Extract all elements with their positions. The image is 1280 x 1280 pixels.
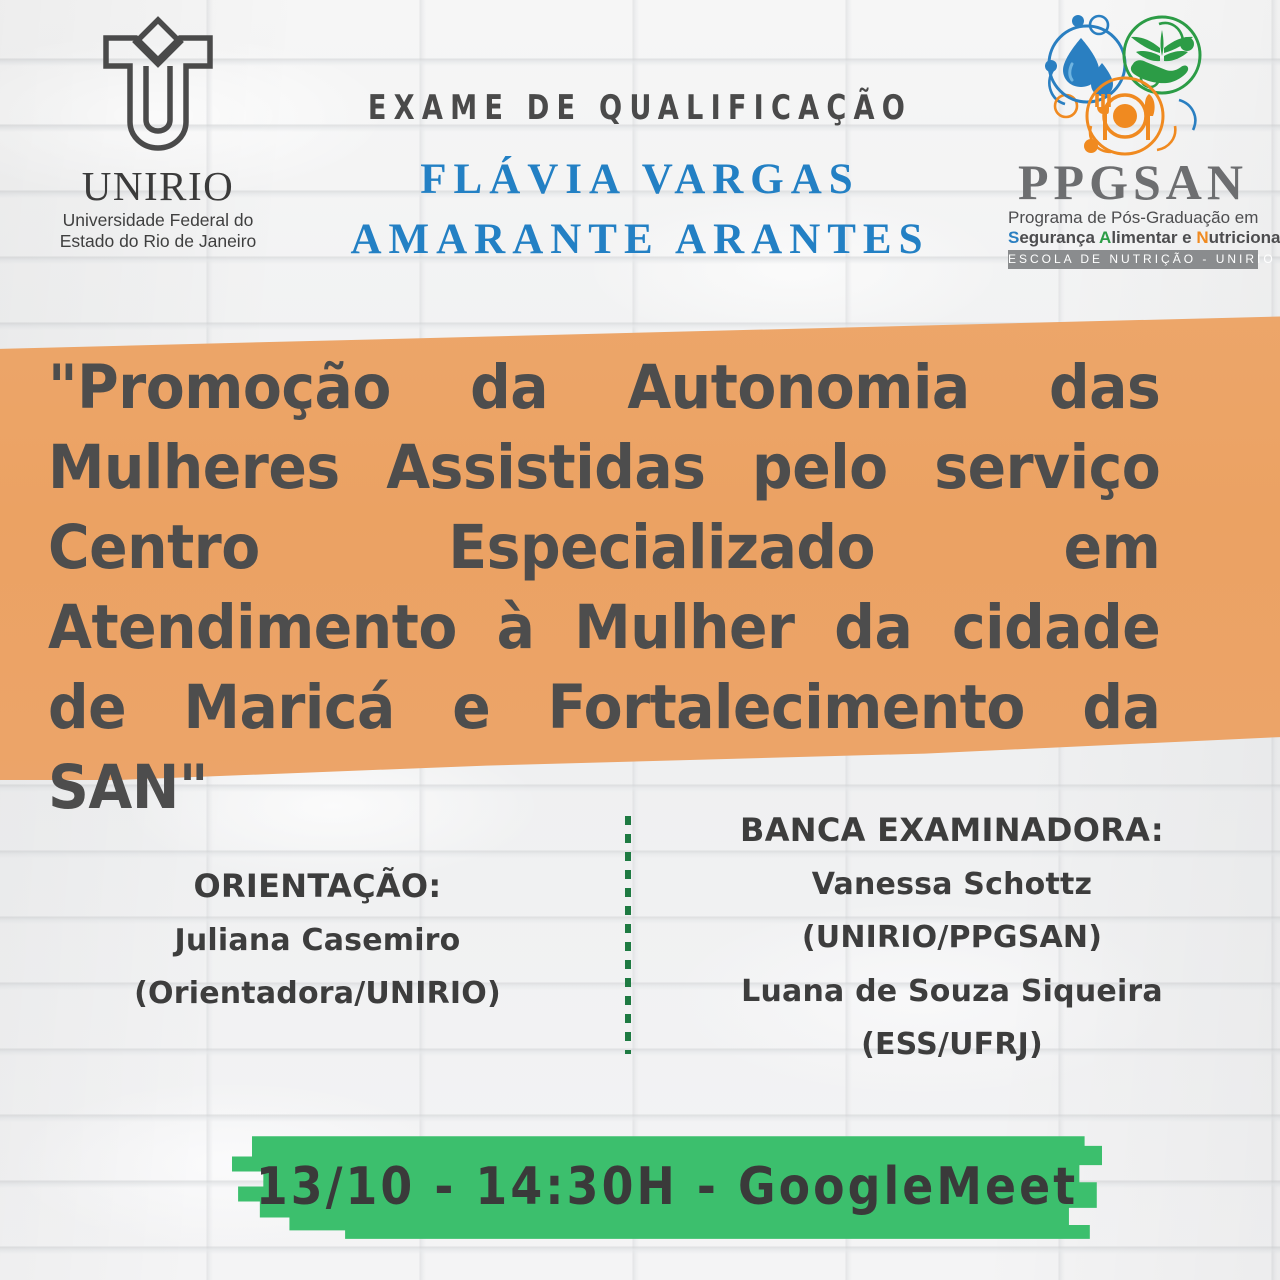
examination-board-entry-2: Luana de Souza Siqueira — [652, 965, 1252, 1018]
examination-board-heading: BANCA EXAMINADORA: — [652, 802, 1252, 858]
unirio-wordmark: UNIRIO — [48, 166, 268, 207]
schedule-banner: 13/10 - 14:30H - GoogleMeet — [232, 1133, 1102, 1240]
advising-column: ORIENTAÇÃO: Juliana Casemiro (Orientador… — [30, 858, 605, 1021]
event-label: EXAME DE QUALIFICAÇÃO — [352, 88, 928, 128]
advising-entry-0: Juliana Casemiro — [30, 914, 605, 967]
ppgsan-tagline-line1: Programa de Pós-Graduação em — [1008, 208, 1258, 228]
student-name-line1: FLÁVIA VARGAS — [280, 150, 1000, 210]
unirio-u-crest-icon — [84, 14, 232, 164]
vertical-dotted-divider — [625, 816, 631, 1054]
unirio-logo: UNIRIO Universidade Federal do Estado do… — [48, 14, 268, 264]
ppgsan-tagline-line2: Segurança Alimentar e Nutricional — [1008, 228, 1258, 248]
advising-entry-1: (Orientadora/UNIRIO) — [30, 967, 605, 1020]
examination-board-entry-1: (UNIRIO/PPGSAN) — [652, 911, 1252, 964]
header-text-block: EXAME DE QUALIFICAÇÃO FLÁVIA VARGAS AMAR… — [280, 88, 1000, 270]
ppgsan-footer-bar: ESCOLA DE NUTRIÇÃO - UNIRIO — [1008, 250, 1258, 269]
ppgsan-letter-s: S — [1008, 228, 1019, 247]
ppgsan-word-nutricional: utricional — [1209, 228, 1280, 247]
poster-canvas: UNIRIO Universidade Federal do Estado do… — [0, 0, 1280, 1280]
unirio-subtitle-line1: Universidade Federal do — [48, 210, 268, 231]
examination-board-column: BANCA EXAMINADORA: Vanessa Schottz (UNIR… — [652, 802, 1252, 1072]
schedule-banner-text: 13/10 - 14:30H - GoogleMeet — [284, 1133, 1050, 1240]
student-name-line2: AMARANTE ARANTES — [280, 210, 1000, 270]
ppgsan-wordmark: PPGSAN — [1008, 158, 1258, 207]
ppgsan-letter-a: A — [1099, 228, 1111, 247]
ppgsan-icon-cluster — [1029, 8, 1237, 160]
ppgsan-word-alimentar: limentar e — [1111, 228, 1196, 247]
examination-board-entry-0: Vanessa Schottz — [652, 858, 1252, 911]
ppgsan-letter-n: N — [1196, 228, 1208, 247]
advising-heading: ORIENTAÇÃO: — [30, 858, 605, 914]
examination-board-entry-3: (ESS/UFRJ) — [652, 1018, 1252, 1071]
ppgsan-word-seguranca: egurança — [1019, 228, 1099, 247]
unirio-subtitle: Universidade Federal do Estado do Rio de… — [48, 210, 268, 251]
unirio-subtitle-line2: Estado do Rio de Janeiro — [48, 231, 268, 252]
student-name: FLÁVIA VARGAS AMARANTE ARANTES — [280, 150, 1000, 270]
ppgsan-logo: PPGSAN Programa de Pós-Graduação em Segu… — [1008, 8, 1258, 269]
